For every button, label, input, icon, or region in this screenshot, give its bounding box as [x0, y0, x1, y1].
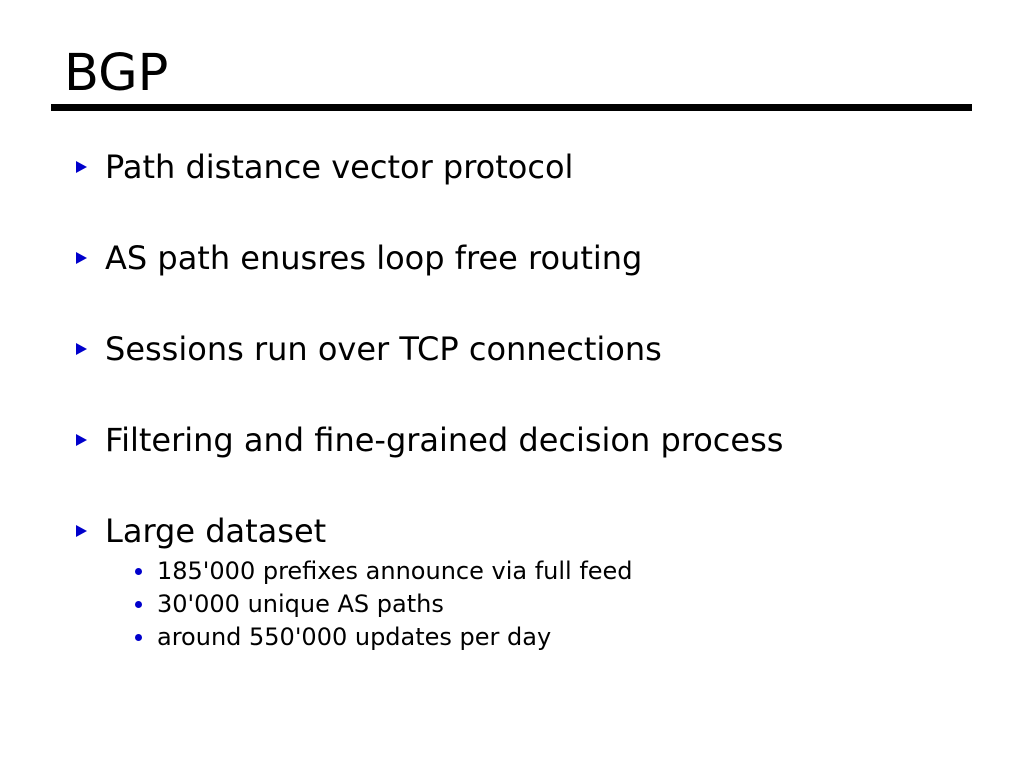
list-item-label: AS path enusres loop free routing — [105, 239, 642, 277]
sub-list-item: 185'000 prefixes announce via full feed — [131, 555, 1004, 588]
list-item-label: Sessions run over TCP connections — [105, 330, 662, 368]
list-item-label: Filtering and fine-grained decision proc… — [105, 421, 783, 459]
sub-bullet-list: 185'000 prefixes announce via full feed … — [105, 555, 1004, 654]
list-item-label: Large dataset — [105, 512, 326, 550]
triangle-right-icon — [76, 434, 87, 446]
sub-list-item-label: 30'000 unique AS paths — [157, 590, 444, 618]
triangle-right-icon — [76, 161, 87, 173]
page-title: BGP — [51, 46, 972, 102]
list-item: Filtering and fine-grained decision proc… — [74, 421, 1004, 460]
list-item-label: Path distance vector protocol — [105, 148, 573, 186]
list-item: Sessions run over TCP connections — [74, 330, 1004, 369]
list-item: AS path enusres loop free routing — [74, 239, 1004, 278]
title-underline-rule — [51, 104, 972, 111]
list-item: Path distance vector protocol — [74, 148, 1004, 187]
sub-list-item-label: 185'000 prefixes announce via full feed — [157, 557, 633, 585]
triangle-right-icon — [76, 525, 87, 537]
dot-icon — [135, 568, 142, 575]
triangle-right-icon — [76, 252, 87, 264]
slide-title-block: BGP — [51, 46, 972, 111]
sub-list-item: 30'000 unique AS paths — [131, 588, 1004, 621]
dot-icon — [135, 601, 142, 608]
bullet-list: Path distance vector protocol AS path en… — [74, 148, 1004, 654]
list-item: Large dataset 185'000 prefixes announce … — [74, 512, 1004, 654]
slide-body: Path distance vector protocol AS path en… — [74, 148, 1004, 660]
sub-list-item-label: around 550'000 updates per day — [157, 623, 551, 651]
presentation-slide: BGP Path distance vector protocol AS pat… — [0, 0, 1024, 768]
triangle-right-icon — [76, 343, 87, 355]
sub-list-item: around 550'000 updates per day — [131, 621, 1004, 654]
dot-icon — [135, 634, 142, 641]
